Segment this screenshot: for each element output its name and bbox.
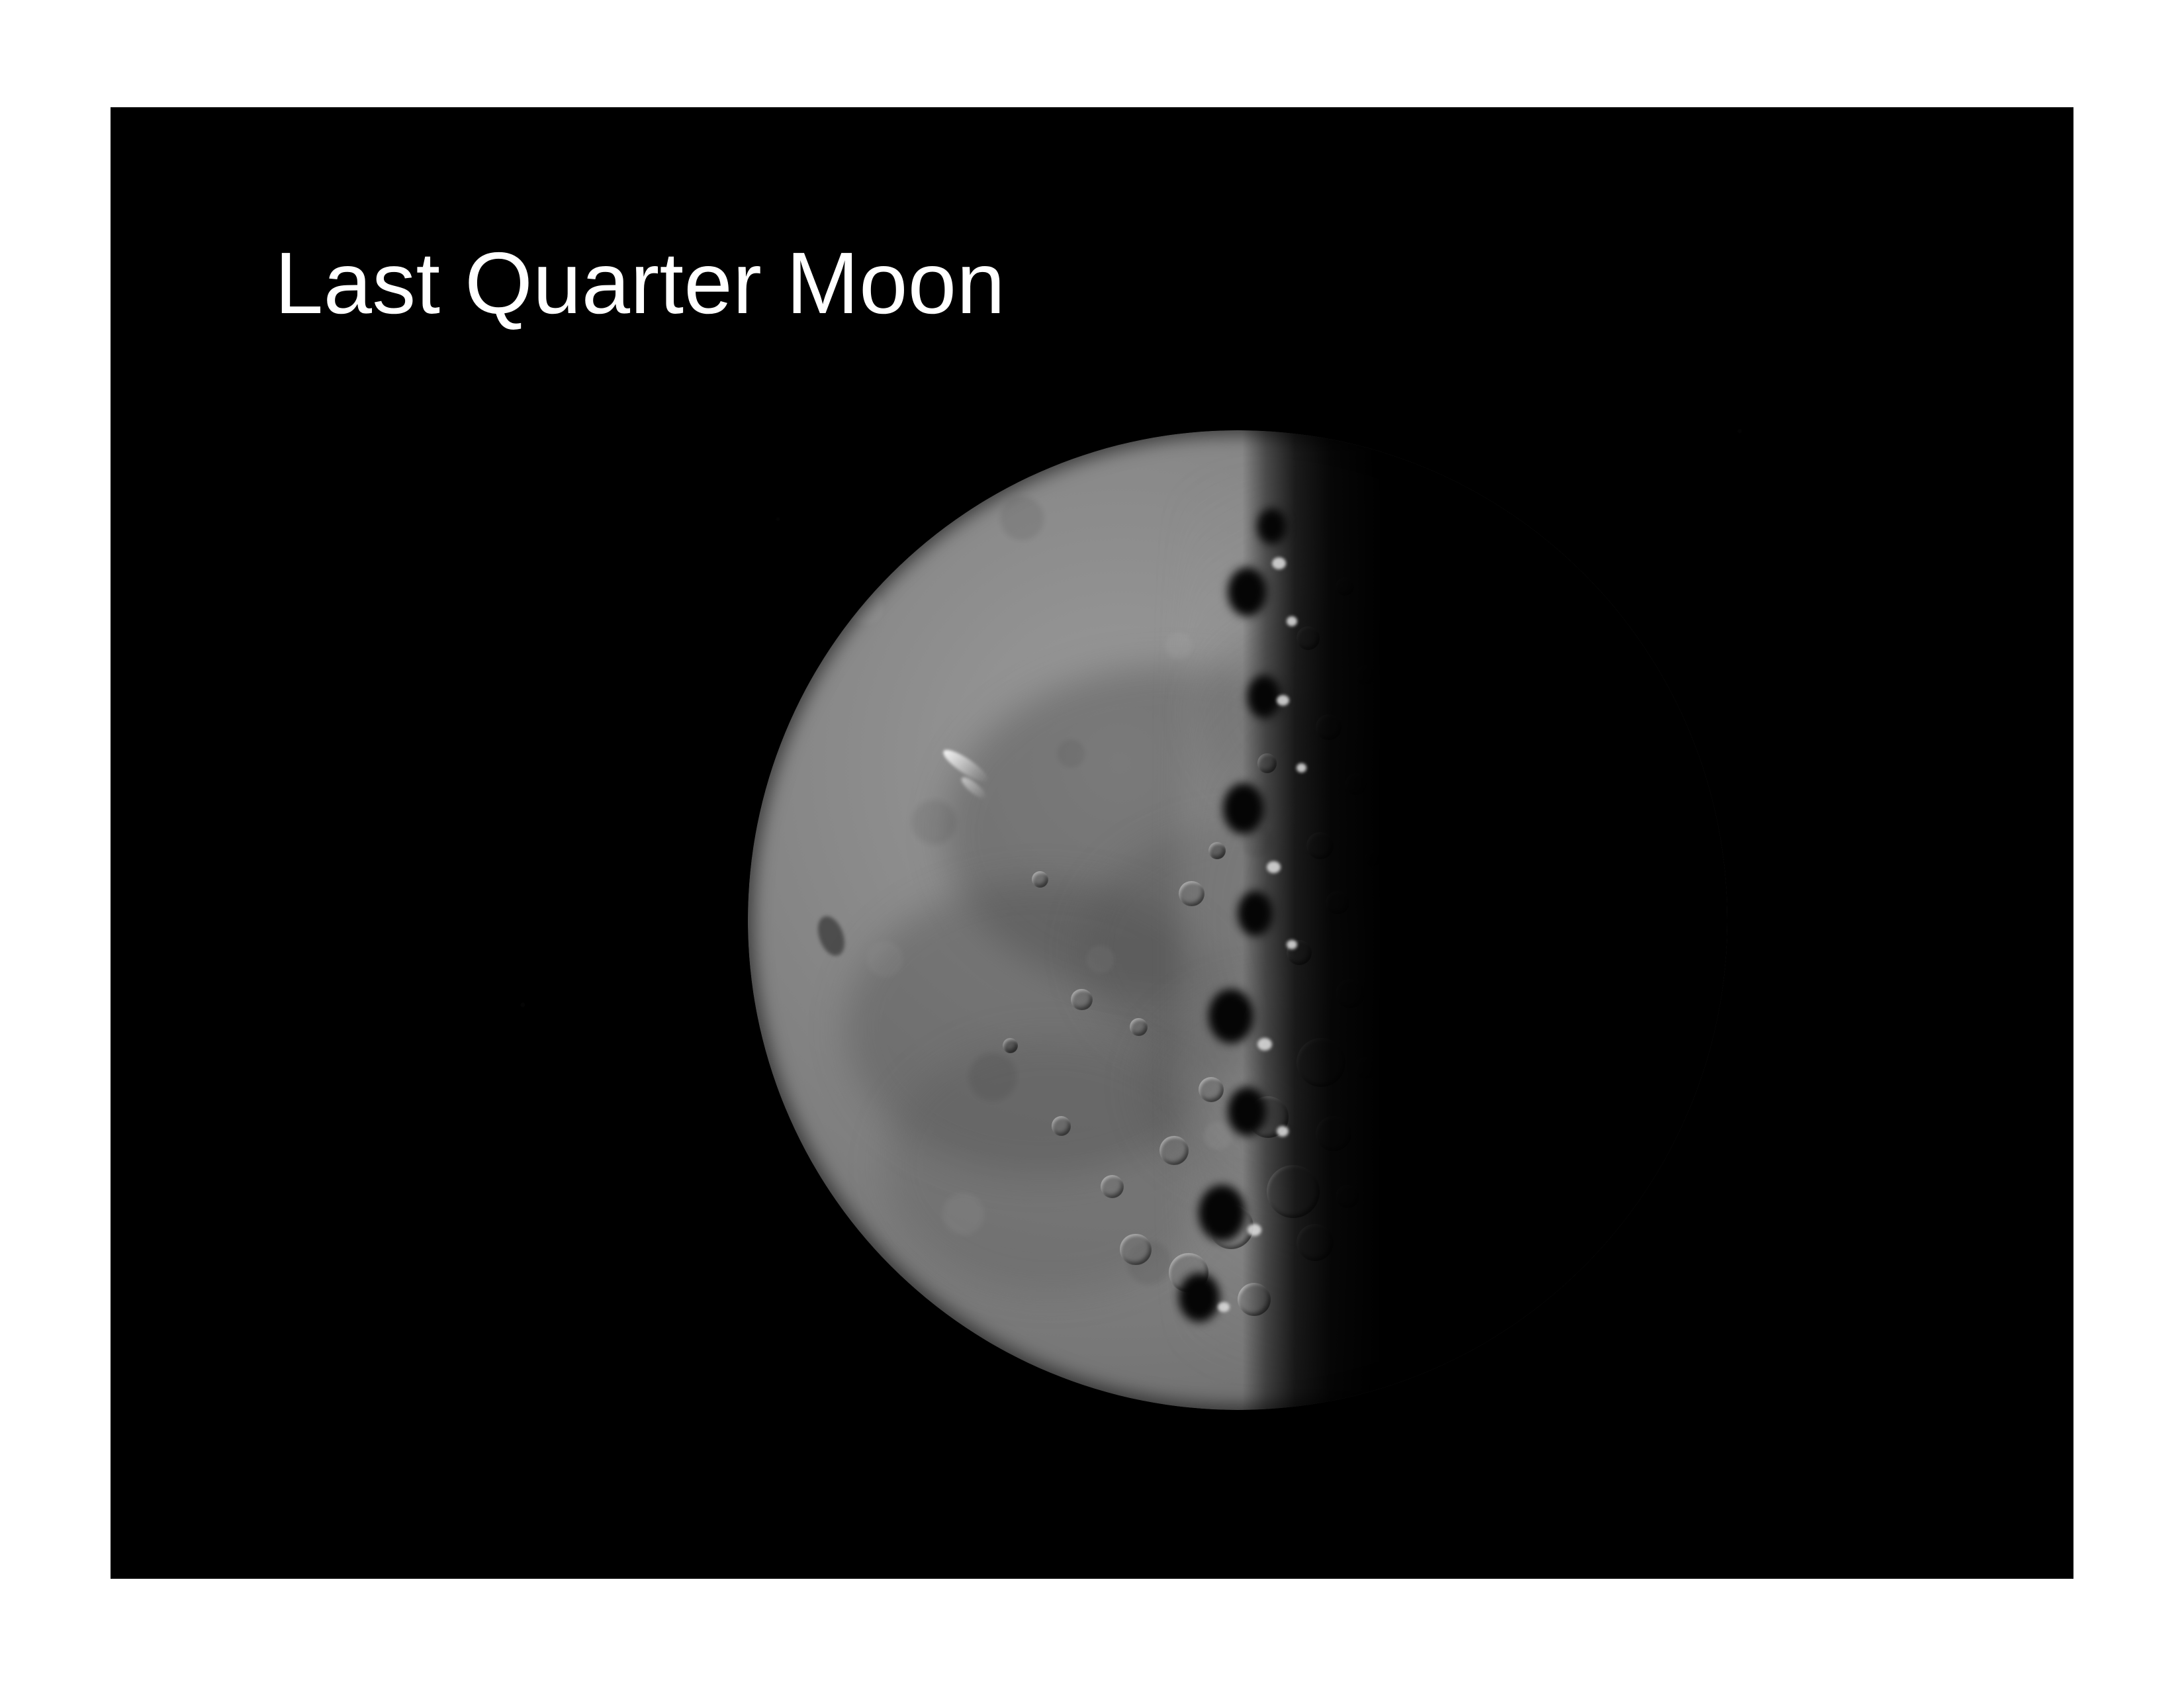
- terminator-notch: [1179, 1273, 1220, 1322]
- crater: [1179, 881, 1204, 906]
- crater: [1238, 1283, 1271, 1316]
- terminator-notch: [1257, 508, 1287, 543]
- crater: [1345, 773, 1367, 795]
- terminator-notch: [1208, 989, 1253, 1044]
- crater: [1306, 832, 1334, 859]
- crater: [1316, 714, 1341, 739]
- crater: [1316, 1116, 1351, 1151]
- terminator-notch: [1228, 1087, 1267, 1136]
- crater: [1355, 665, 1375, 685]
- slide-canvas: Last Quarter Moon: [0, 0, 2184, 1688]
- photo-panel: Last Quarter Moon: [111, 107, 2073, 1579]
- moon-disk: [748, 430, 1727, 1410]
- crater: [1365, 851, 1379, 866]
- crater: [1355, 1057, 1377, 1079]
- terminator-rim-highlight: [1297, 763, 1306, 772]
- crater: [1120, 1234, 1151, 1265]
- crater: [1052, 1116, 1071, 1136]
- crater: [1336, 1185, 1359, 1209]
- terminator-notch: [1238, 891, 1273, 936]
- terminator-rim-highlight: [1277, 1126, 1289, 1137]
- moon-image: [748, 430, 1727, 1410]
- terminator-notch: [1223, 783, 1264, 834]
- terminator-rim-highlight: [1248, 1224, 1261, 1236]
- terminator-rim-highlight: [1218, 1302, 1230, 1312]
- crater: [1297, 1038, 1345, 1087]
- terminator-rim-highlight: [1267, 861, 1281, 873]
- terminator-notch: [1199, 1185, 1246, 1242]
- terminator-notch: [1248, 675, 1281, 718]
- crater: [1336, 577, 1354, 596]
- terminator-rim-highlight: [1272, 557, 1286, 569]
- page-title: Last Quarter Moon: [275, 240, 1005, 327]
- crater: [1297, 1224, 1334, 1261]
- crater: [1375, 1136, 1402, 1163]
- crater: [1160, 1136, 1189, 1165]
- crater: [1297, 626, 1320, 650]
- crater: [1130, 1018, 1148, 1036]
- crater: [1071, 989, 1093, 1011]
- crater: [1267, 1165, 1320, 1218]
- crater: [1326, 891, 1349, 915]
- crater: [1257, 753, 1277, 773]
- terminator-rim-highlight: [1257, 1038, 1272, 1051]
